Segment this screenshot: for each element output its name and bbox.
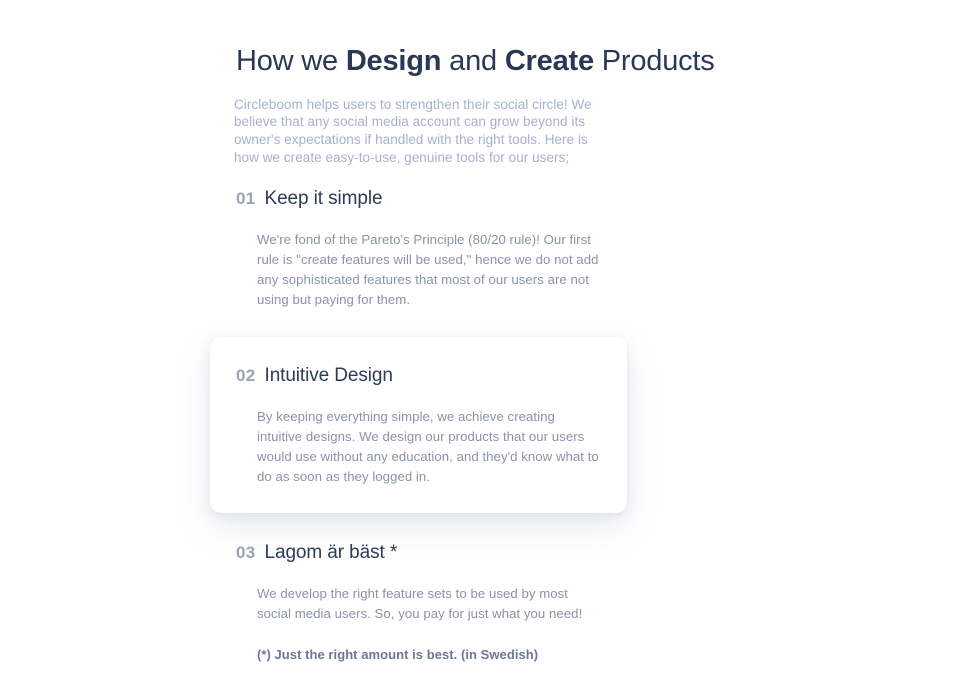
page-title-segment-2: and [441, 45, 505, 77]
step-item-01: 01 Keep it simple We're fond of the Pare… [236, 188, 636, 323]
step-header-02: 02 Intuitive Design [236, 365, 636, 387]
step-body-02: By keeping everything simple, we achieve… [257, 407, 602, 487]
step-title-02: Intuitive Design [265, 365, 393, 387]
page-title-bold-design: Design [346, 45, 442, 77]
step-header-03: 03 Lagom är bäst * [236, 542, 636, 564]
step-item-02[interactable]: 02 Intuitive Design By keeping everythin… [236, 365, 636, 500]
intro-paragraph: Circleboom helps users to strengthen the… [234, 96, 606, 167]
step-title-03: Lagom är bäst * [265, 542, 398, 564]
step-item-03: 03 Lagom är bäst * We develop the right … [236, 542, 636, 677]
step-number-02: 02 [236, 366, 256, 386]
page-title-segment-1: How we [236, 45, 346, 77]
step-footnote-03: (*) Just the right amount is best. (in S… [257, 645, 602, 664]
page-title-bold-create: Create [505, 45, 594, 77]
page-title-segment-3: Products [594, 45, 715, 77]
page-title: How we Design and Create Products [236, 41, 896, 81]
step-title-01: Keep it simple [265, 188, 383, 210]
step-number-01: 01 [236, 189, 256, 209]
page-container: How we Design and Create Products Circle… [0, 0, 953, 693]
step-body-03: We develop the right feature sets to be … [257, 584, 602, 624]
step-header-01: 01 Keep it simple [236, 188, 636, 210]
step-number-03: 03 [236, 543, 256, 563]
step-body-01: We're fond of the Pareto's Principle (80… [257, 230, 602, 310]
